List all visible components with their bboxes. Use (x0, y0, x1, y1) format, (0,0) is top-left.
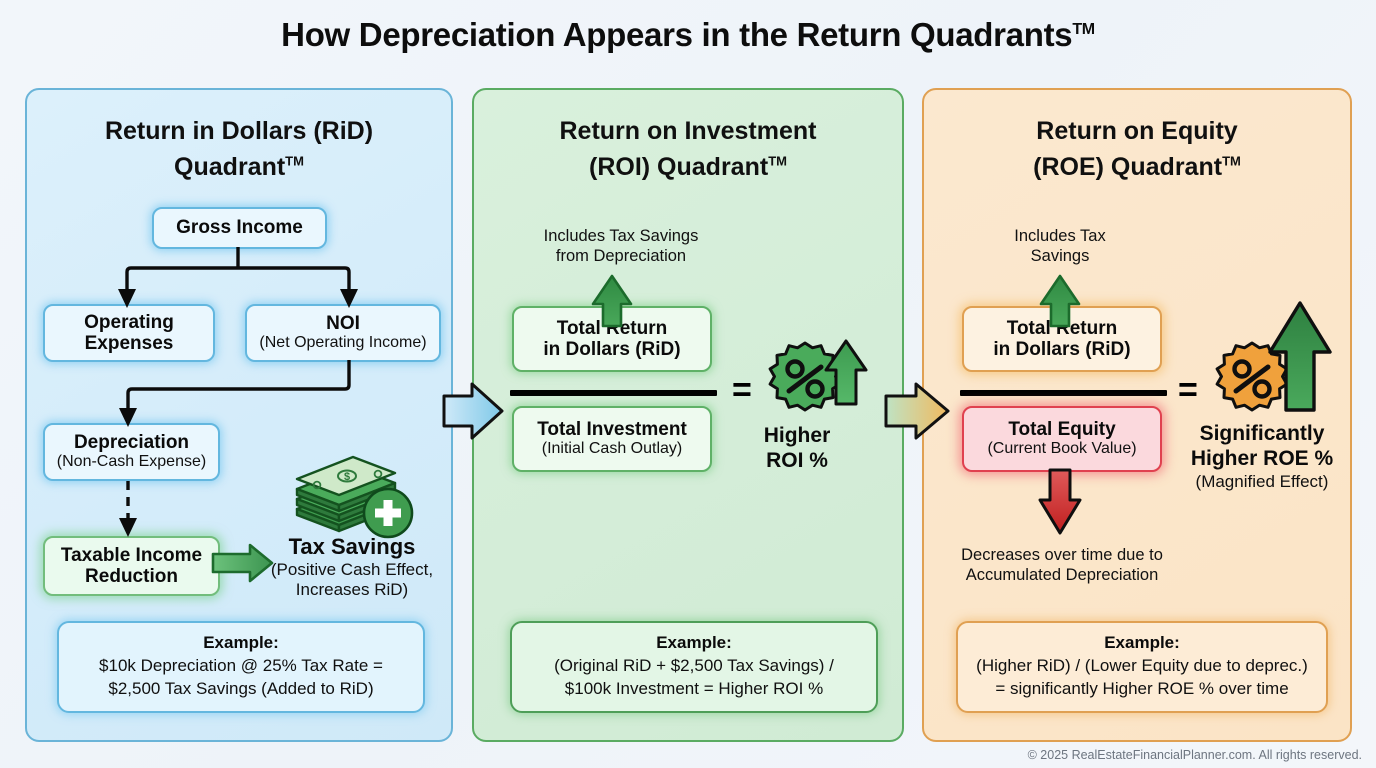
tax-savings-line2: Increases RiD) (252, 580, 452, 600)
roi-fraction-bar (510, 390, 717, 396)
node-gross-income: Gross Income (152, 207, 327, 249)
node-roe-denominator-total-equity: Total Equity (Current Book Value) (962, 406, 1162, 472)
example-roi-line2: $100k Investment = Higher ROI % (565, 678, 823, 701)
panel-roi-title-line2: (ROI) Quadrant (589, 153, 768, 181)
panel-return-on-equity: Return on Equity (ROE) QuadrantTM Includ… (922, 88, 1352, 742)
example-rid-line2: $2,500 Tax Savings (Added to RiD) (108, 678, 373, 701)
node-roi-numerator-total-return: Total Return in Dollars (RiD) (512, 306, 712, 372)
panel-roe-trademark: TM (1222, 153, 1241, 168)
roi-includes-tax-savings-note: Includes Tax Savings from Depreciation (496, 226, 746, 266)
page-title-trademark: TM (1072, 21, 1095, 38)
roe-equals-sign: = (1178, 373, 1198, 407)
roe-result-line3: (Magnified Effect) (1172, 472, 1352, 492)
node-taxable-income-reduction: Taxable Income Reduction (43, 536, 220, 596)
roe-fraction-bar (960, 390, 1167, 396)
roi-note-line2: from Depreciation (556, 247, 686, 265)
roe-result-line2: Higher ROE % (1172, 447, 1352, 472)
roi-result-label: Higher ROI % (745, 424, 849, 474)
example-roe-line2: = significantly Higher ROE % over time (995, 678, 1288, 701)
roe-denominator-label: Total Equity (1008, 419, 1115, 440)
example-rid-heading: Example: (203, 633, 279, 653)
tax-savings-line1: (Positive Cash Effect, (252, 560, 452, 580)
panel-roe-title: Return on Equity (ROE) QuadrantTM (924, 114, 1350, 185)
example-roe-heading: Example: (1104, 633, 1180, 653)
node-noi-sublabel: (Net Operating Income) (259, 334, 426, 352)
roe-note-line2: Savings (1031, 247, 1090, 265)
node-taxable-income-line1: Taxable Income (61, 545, 202, 566)
node-taxable-income-line2: Reduction (85, 566, 178, 587)
panel-rid-title: Return in Dollars (RiD) QuadrantTM (27, 114, 451, 185)
node-gross-income-label: Gross Income (176, 217, 303, 238)
node-depreciation-sublabel: (Non-Cash Expense) (57, 453, 206, 471)
node-noi: NOI (Net Operating Income) (245, 304, 441, 362)
roe-result-line1: Significantly (1172, 422, 1352, 447)
page-title-text: How Depreciation Appears in the Return Q… (281, 16, 1072, 53)
roi-denominator-sublabel: (Initial Cash Outlay) (542, 440, 683, 458)
node-roe-numerator-total-return: Total Return in Dollars (RiD) (962, 306, 1162, 372)
roi-numerator-line2: in Dollars (RiD) (543, 339, 680, 360)
roe-result-label: Significantly Higher ROE % (Magnified Ef… (1172, 422, 1352, 492)
copyright-footer: © 2025 RealEstateFinancialPlanner.com. A… (1028, 748, 1362, 762)
tax-savings-block: Tax Savings (Positive Cash Effect, Incre… (252, 534, 452, 601)
example-box-roi: Example: (Original RiD + $2,500 Tax Savi… (510, 621, 878, 713)
roe-numerator-line2: in Dollars (RiD) (993, 339, 1130, 360)
node-noi-label: NOI (326, 313, 360, 334)
node-operating-expenses: Operating Expenses (43, 304, 215, 362)
roi-note-line1: Includes Tax Savings (544, 227, 699, 245)
node-depreciation-label: Depreciation (74, 432, 189, 453)
example-roi-heading: Example: (656, 633, 732, 653)
panel-return-in-dollars: Return in Dollars (RiD) QuadrantTM Gross… (25, 88, 453, 742)
panel-rid-title-line2: Quadrant (174, 153, 285, 181)
example-box-roe: Example: (Higher RiD) / (Lower Equity du… (956, 621, 1328, 713)
roi-result-line1: Higher (745, 424, 849, 449)
roe-decrease-line1: Decreases over time due to (961, 546, 1163, 564)
tax-savings-heading: Tax Savings (252, 534, 452, 560)
panel-rid-title-line1: Return in Dollars (RiD) (105, 117, 373, 145)
example-roi-line1: (Original RiD + $2,500 Tax Savings) / (554, 655, 834, 678)
panel-roi-title: Return on Investment (ROI) QuadrantTM (474, 114, 902, 185)
roe-note-line1: Includes Tax (1014, 227, 1105, 245)
roe-equity-decrease-note: Decreases over time due to Accumulated D… (936, 545, 1188, 585)
node-operating-expenses-line2: Expenses (85, 333, 174, 354)
node-roi-denominator-total-investment: Total Investment (Initial Cash Outlay) (512, 406, 712, 472)
roe-numerator-line1: Total Return (1007, 318, 1117, 339)
node-depreciation: Depreciation (Non-Cash Expense) (43, 423, 220, 481)
node-operating-expenses-line1: Operating (84, 312, 174, 333)
example-rid-line1: $10k Depreciation @ 25% Tax Rate = (99, 655, 383, 678)
example-box-rid: Example: $10k Depreciation @ 25% Tax Rat… (57, 621, 425, 713)
panel-roe-title-line1: Return on Equity (1036, 117, 1237, 145)
roe-denominator-sublabel: (Current Book Value) (987, 440, 1136, 458)
panel-rid-trademark: TM (285, 153, 304, 168)
panel-roe-title-line2: (ROE) Quadrant (1033, 153, 1222, 181)
panel-roi-title-line1: Return on Investment (560, 117, 817, 145)
roi-denominator-label: Total Investment (537, 419, 687, 440)
roe-includes-tax-savings-note: Includes Tax Savings (970, 226, 1150, 266)
roi-equals-sign: = (732, 373, 752, 407)
page-title: How Depreciation Appears in the Return Q… (0, 16, 1376, 54)
roe-decrease-line2: Accumulated Depreciation (966, 566, 1159, 584)
infographic-canvas: How Depreciation Appears in the Return Q… (0, 0, 1376, 768)
example-roe-line1: (Higher RiD) / (Lower Equity due to depr… (976, 655, 1308, 678)
roi-numerator-line1: Total Return (557, 318, 667, 339)
panel-roi-trademark: TM (768, 153, 787, 168)
panel-return-on-investment: Return on Investment (ROI) QuadrantTM In… (472, 88, 904, 742)
roi-result-line2: ROI % (745, 449, 849, 474)
